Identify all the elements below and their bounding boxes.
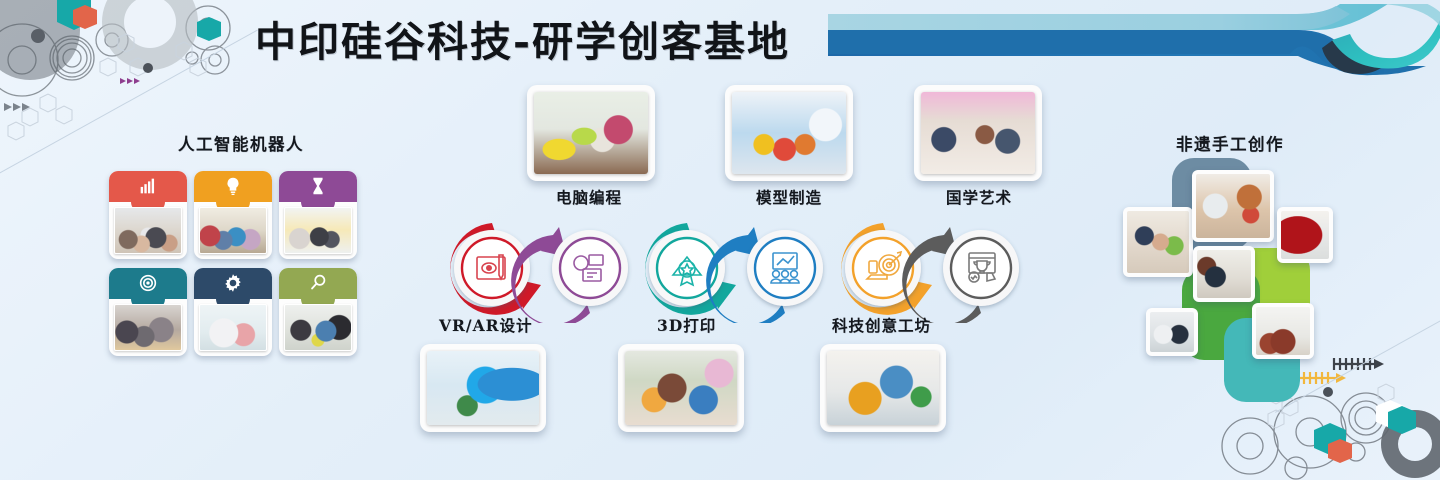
sewing-bench-photo[interactable] [1193, 246, 1255, 302]
ai-card-magnifier[interactable] [279, 268, 357, 356]
process-badge-row [437, 213, 1037, 323]
red-instrument-rack-photo[interactable] [1277, 207, 1333, 263]
calligraphy-hall-photo[interactable] [1252, 303, 1314, 359]
badge-3d-printing[interactable] [645, 223, 736, 315]
hourglass-icon [307, 175, 329, 197]
center-top-card-2[interactable] [725, 85, 853, 181]
center-label-vr-ar: VR/AR设计 [439, 314, 532, 336]
center-top-card-1[interactable] [527, 85, 655, 181]
robot-demo-crowd-photo [114, 207, 182, 254]
vr-ar-showroom-photo [427, 351, 539, 425]
center-label-3d-printing: 3D打印 [657, 314, 716, 336]
page-title: 中印硅谷科技-研学创客基地 [255, 8, 790, 68]
gear-icon [222, 272, 244, 294]
tech-creative-workshop-photo [827, 351, 939, 425]
ai-card-bar-chart[interactable] [109, 171, 187, 259]
hex-accent-teal [57, 0, 91, 30]
ai-card-target[interactable] [109, 268, 187, 356]
ai-robot-card-grid [109, 171, 357, 356]
ai-card-hourglass[interactable] [279, 171, 357, 259]
hex-accent-orange [73, 5, 97, 29]
classroom-activity-photo [199, 207, 267, 254]
center-bottom-card-1[interactable] [420, 344, 546, 432]
badge-vr-ar[interactable] [450, 223, 541, 315]
badge-tech-workshop[interactable] [841, 223, 932, 315]
arrow-yellow [1298, 372, 1346, 384]
center-top-card-3[interactable] [914, 85, 1042, 181]
hex-accent-orange-br [1328, 439, 1352, 463]
visitors-photo[interactable] [1146, 308, 1198, 356]
lightbulb-icon [222, 175, 244, 197]
craft-workshop-photo[interactable] [1123, 207, 1193, 277]
ai-card-gear[interactable] [194, 268, 272, 356]
magnifier-icon [307, 272, 329, 294]
robot-corridor-photo [284, 207, 352, 254]
section-title-craft: 非遗手工创作 [1176, 131, 1284, 155]
arrow-dark [1334, 358, 1384, 370]
section-title-ai: 人工智能机器人 [178, 131, 304, 155]
bar-chart-icon [137, 175, 159, 197]
center-label-computer-programming: 电脑编程 [556, 186, 622, 208]
child-robot-photo [199, 304, 267, 351]
poster-canvas: 中印硅谷科技-研学创客基地 人工智能机器人 [0, 0, 1440, 480]
tool-wall-corridor-photo[interactable] [1192, 170, 1274, 242]
robot-exhibit-photo [114, 304, 182, 351]
center-bottom-card-3[interactable] [820, 344, 946, 432]
decorative-ribbon [828, 4, 1440, 82]
center-bottom-card-2[interactable] [618, 344, 744, 432]
center-label-model-making: 模型制造 [756, 186, 822, 208]
model-making-photo [732, 92, 846, 174]
center-label-tech-workshop: 科技创意工坊 [832, 314, 931, 336]
target-icon [137, 272, 159, 294]
center-label-chinese-studies-art: 国学艺术 [946, 186, 1012, 208]
chinese-studies-art-photo [921, 92, 1035, 174]
maker-lab-photo [284, 304, 352, 351]
3d-printing-photo [625, 351, 737, 425]
computer-programming-photo [534, 92, 648, 174]
ai-card-lightbulb[interactable] [194, 171, 272, 259]
hex-accent-teal-br [1388, 406, 1416, 434]
